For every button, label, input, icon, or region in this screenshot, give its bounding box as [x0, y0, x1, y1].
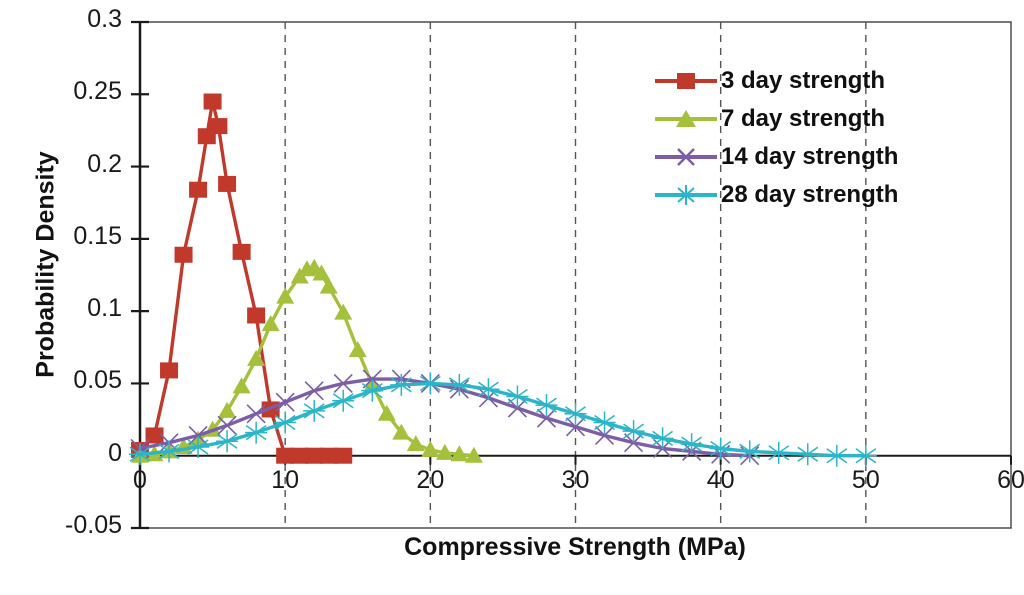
- data-point-square: [160, 362, 178, 378]
- x-tick-label: 30: [546, 466, 606, 495]
- y-tick-label: 0.25: [12, 77, 122, 106]
- legend-key-square-icon: [655, 70, 717, 92]
- data-point-square: [218, 176, 236, 192]
- legend-label: 7 day strength: [721, 105, 885, 133]
- legend-item[interactable]: 14 day strength: [655, 138, 985, 176]
- data-point-square: [233, 244, 251, 260]
- y-tick-label: -0.05: [12, 511, 122, 540]
- y-tick-label: 0.1: [12, 294, 122, 323]
- y-tick-label: 0.2: [12, 150, 122, 179]
- legend-item[interactable]: 7 day strength: [655, 100, 985, 138]
- legend-label: 14 day strength: [721, 143, 898, 171]
- data-point-square: [209, 118, 227, 134]
- y-tick-label: 0.05: [12, 366, 122, 395]
- legend-item[interactable]: 3 day strength: [655, 62, 985, 100]
- legend-label: 28 day strength: [721, 181, 898, 209]
- x-tick-label: 10: [255, 466, 315, 495]
- x-tick-label: 0: [110, 466, 170, 495]
- data-point-square: [247, 307, 265, 323]
- chart-legend: 3 day strength 7 day strength 14 day str…: [655, 62, 985, 214]
- x-tick-label: 20: [400, 466, 460, 495]
- legend-key-triangle-icon: [655, 108, 717, 130]
- data-point-square: [204, 94, 222, 110]
- y-tick-label: 0.3: [12, 5, 122, 34]
- legend-label: 3 day strength: [721, 67, 885, 95]
- data-point-square: [175, 247, 193, 263]
- x-tick-label: 50: [836, 466, 896, 495]
- x-tick-label: 60: [981, 466, 1024, 495]
- data-point-square: [334, 448, 352, 464]
- y-tick-label: 0: [12, 439, 122, 468]
- chart-container: Probability Density Compressive Strength…: [0, 0, 1024, 595]
- legend-key-asterisk-icon: [655, 184, 717, 206]
- legend-item[interactable]: 28 day strength: [655, 176, 985, 214]
- data-point-square: [189, 182, 207, 198]
- x-axis-title: Compressive Strength (MPa): [140, 533, 1010, 562]
- legend-key-x-icon: [655, 146, 717, 168]
- y-tick-label: 0.15: [12, 222, 122, 251]
- x-tick-label: 40: [691, 466, 751, 495]
